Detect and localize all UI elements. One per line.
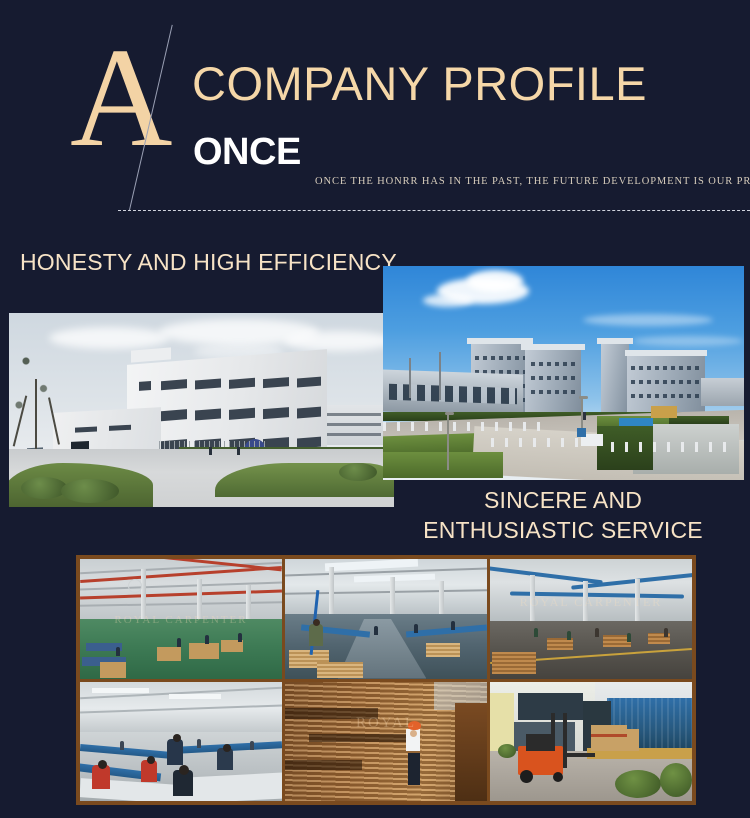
worker	[534, 628, 538, 637]
person	[237, 447, 240, 455]
tree-trunk	[48, 397, 60, 444]
carton	[157, 647, 181, 661]
header-banner: A COMPANY PROFILE ONCE ONCE THE HONRR HA…	[0, 0, 750, 228]
carton	[189, 643, 219, 659]
roof-cap	[521, 344, 585, 350]
support-column	[390, 577, 395, 619]
worker	[116, 647, 120, 656]
campus-building	[525, 348, 581, 420]
shrub	[61, 479, 119, 503]
window	[75, 427, 97, 433]
inspector-trousers	[408, 753, 420, 785]
window	[195, 408, 221, 420]
shadow-gap	[309, 734, 414, 742]
carton	[100, 662, 126, 678]
photo-factory-campus	[383, 266, 744, 480]
supervisor	[167, 739, 183, 765]
window-row	[631, 394, 701, 398]
cloud	[633, 336, 743, 346]
tree-silhouette	[9, 339, 75, 449]
cloud	[467, 270, 523, 292]
gate-sign	[577, 428, 586, 437]
carton	[221, 640, 243, 652]
ceiling-light	[169, 694, 222, 699]
worker	[309, 624, 323, 646]
worker	[217, 748, 233, 770]
forklift-mast	[563, 713, 567, 768]
window	[139, 381, 151, 391]
cargo-carton	[615, 729, 639, 751]
window	[263, 407, 289, 419]
worker	[120, 741, 124, 750]
window-row	[321, 413, 381, 416]
window	[229, 408, 255, 420]
shadow-gap	[285, 708, 378, 719]
shrub	[339, 463, 377, 481]
tree-trunk	[13, 396, 28, 447]
worker-head	[313, 619, 320, 626]
ceiling-light	[92, 688, 149, 693]
header-tagline: ONCE THE HONRR HAS IN THE PAST, THE FUTU…	[315, 175, 750, 189]
timber-column	[455, 703, 487, 801]
worker	[197, 739, 201, 748]
window	[195, 378, 221, 389]
timber-stack	[492, 652, 536, 674]
shrub	[498, 744, 516, 758]
window	[109, 425, 131, 431]
window-row	[321, 423, 381, 426]
window	[263, 377, 289, 388]
worker	[177, 638, 181, 647]
worker	[567, 631, 571, 640]
shrub	[660, 763, 692, 797]
cloud	[583, 314, 713, 326]
window	[161, 379, 187, 390]
section-heading-service: SINCERE AND ENTHUSIASTIC SERVICE	[398, 485, 728, 545]
wall-panel	[490, 693, 514, 750]
grid-tile-timber-storage: ROYAL	[285, 682, 487, 802]
tree-trunk	[35, 379, 37, 449]
roof-cap	[625, 350, 707, 356]
window-row	[531, 362, 577, 366]
photo-office-building	[9, 313, 394, 507]
stacked-goods	[651, 406, 677, 418]
timber-stack	[426, 643, 460, 657]
window-row	[631, 366, 701, 370]
support-column	[141, 569, 146, 623]
page-subtitle: ONCE	[193, 130, 301, 174]
grid-tile-container-loading	[490, 682, 692, 802]
cloud	[423, 294, 473, 307]
worker	[627, 633, 631, 642]
person	[209, 447, 212, 455]
grid-tile-wide-workshop: ROYAL CARPENTER	[490, 559, 692, 679]
worker	[451, 621, 455, 630]
roof-cap	[597, 338, 633, 344]
worker-head	[147, 756, 155, 764]
person	[583, 412, 586, 420]
worker	[205, 635, 209, 644]
forklift-wheel	[553, 772, 563, 782]
utility-pole	[439, 352, 441, 400]
window-row	[531, 390, 577, 394]
support-column	[246, 585, 251, 623]
shrub	[615, 770, 661, 798]
grid-tile-workshop-green-floor: ROYAL CARPENTER	[80, 559, 282, 679]
window	[297, 377, 321, 388]
shadow-gap	[285, 760, 362, 770]
worker	[374, 626, 378, 635]
worker-head	[173, 734, 181, 742]
fence-rail	[383, 422, 543, 431]
window-row	[475, 356, 525, 360]
window	[297, 407, 321, 419]
lamp-head	[579, 396, 588, 399]
carton-strap	[591, 734, 627, 737]
cloud	[284, 331, 394, 351]
company-profile-page: A COMPANY PROFILE ONCE ONCE THE HONRR HA…	[0, 0, 750, 818]
utility-pole	[409, 358, 411, 398]
brand-letter-a: A	[70, 26, 173, 168]
header-dashed-divider	[118, 210, 750, 211]
facility-photo-grid: ROYAL CARPENTER	[76, 555, 696, 805]
lamp-head	[445, 412, 454, 415]
fence-rail	[611, 442, 731, 452]
worker	[414, 624, 418, 633]
worker	[238, 633, 242, 642]
window	[161, 409, 187, 421]
worker	[664, 628, 668, 637]
section-heading-honesty: HONESTY AND HIGH EFFICIENCY	[20, 247, 397, 277]
forklift-cab	[526, 734, 554, 751]
grid-tile-worker-benches	[80, 682, 282, 802]
hedge-row	[669, 416, 729, 424]
window-row	[531, 376, 577, 380]
page-title: COMPANY PROFILE	[192, 56, 647, 112]
low-workshop-block	[383, 370, 523, 417]
shrub	[21, 477, 67, 499]
support-column	[329, 567, 334, 619]
window-row	[631, 380, 701, 384]
campus-building	[701, 378, 744, 406]
worker	[595, 628, 599, 637]
support-column	[197, 579, 202, 623]
grid-tile-assembly-line	[285, 559, 487, 679]
worker	[250, 741, 254, 750]
window	[229, 378, 255, 389]
fence-rail	[491, 438, 581, 447]
assembly-table	[184, 772, 282, 801]
worker-red-jacket	[141, 760, 157, 782]
hard-hat	[408, 721, 421, 730]
lawn-strip	[383, 452, 503, 478]
timber-stack	[317, 662, 363, 678]
window-row	[321, 433, 381, 436]
